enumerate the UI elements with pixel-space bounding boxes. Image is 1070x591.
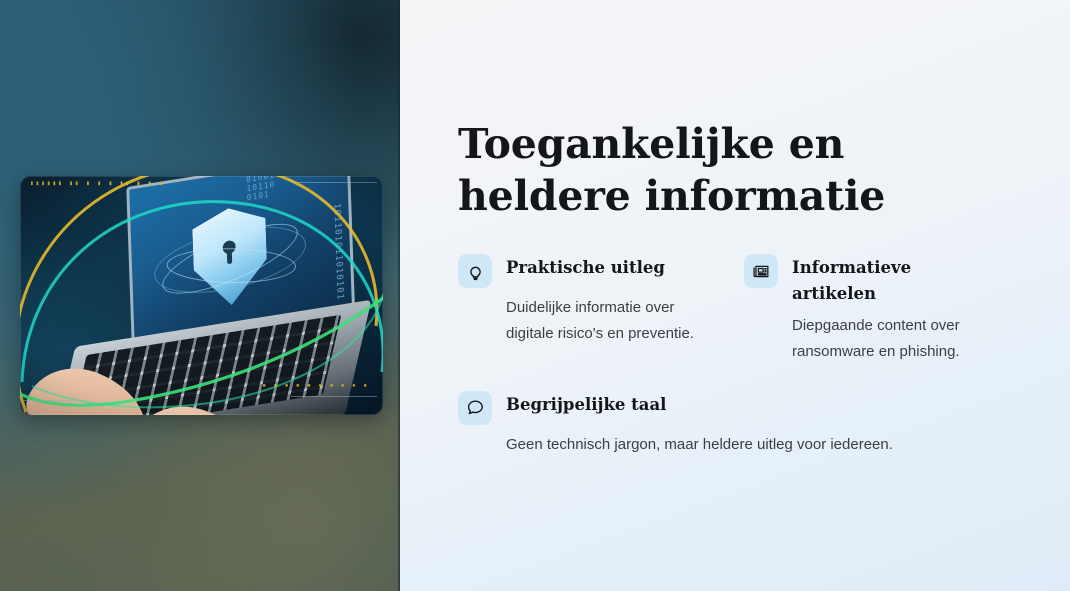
feature-title: Praktische uitleg [506,252,665,281]
lightbulb-icon [458,254,492,288]
feature-list: Praktische uitleg Duidelijke informatie … [458,252,1018,458]
feature-header: Informatieve artikelen [744,252,1030,306]
feature-row-bottom: Begrijpelijke taal Geen technisch jargon… [458,389,1030,458]
feature-item-begrijpelijke-taal: Begrijpelijke taal Geen technisch jargon… [458,389,1030,458]
panel-divider [398,0,400,591]
feature-header: Praktische uitleg [458,252,744,288]
slide-root: 01001 10110 0101 101101011010101 [0,0,1070,591]
left-media-panel: 01001 10110 0101 101101011010101 [0,0,400,591]
feature-title: Begrijpelijke taal [506,389,666,418]
feature-description: Diepgaande content over ransomware en ph… [792,313,1002,365]
feature-title: Informatieve artikelen [792,252,967,306]
feature-header: Begrijpelijke taal [458,389,1030,425]
hero-image-card: 01001 10110 0101 101101011010101 [20,176,383,415]
image-vignette [20,176,383,415]
feature-item-informatieve-artikelen: Informatieve artikelen Diepgaande conten… [744,252,1030,365]
newspaper-icon [744,254,778,288]
page-title: Toegankelijke en heldere informatie [458,118,958,222]
feature-row-top: Praktische uitleg Duidelijke informatie … [458,252,1030,365]
feature-description: Geen technisch jargon, maar heldere uitl… [506,432,1030,458]
content-container: Toegankelijke en heldere informatie [458,118,1018,458]
speech-bubble-icon [458,391,492,425]
right-content-panel: Toegankelijke en heldere informatie [400,0,1070,591]
feature-item-praktische-uitleg: Praktische uitleg Duidelijke informatie … [458,252,744,365]
feature-description: Duidelijke informatie over digitale risi… [506,295,716,347]
